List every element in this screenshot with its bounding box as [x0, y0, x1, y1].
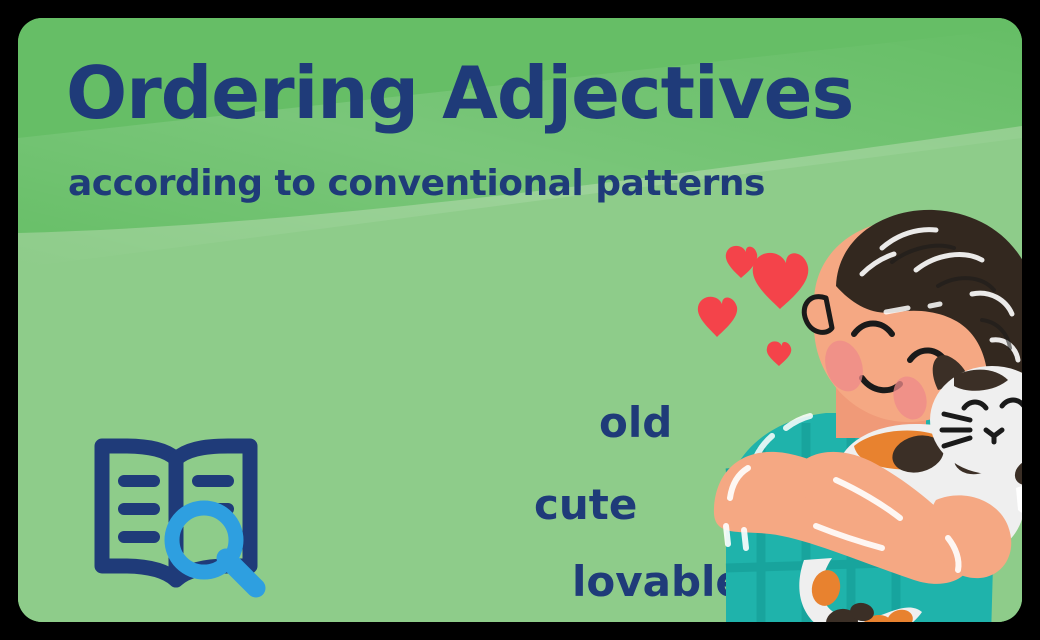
adjective-word-old: old: [599, 402, 672, 444]
ear: [804, 297, 832, 333]
page-title: Ordering Adjectives: [66, 57, 853, 129]
lesson-card: Ordering Adjectives according to convent…: [18, 18, 1022, 622]
open-book-with-magnifier-icon: [80, 430, 280, 605]
page-subtitle: according to conventional patterns: [68, 166, 765, 202]
boy-hugging-cat-illustration: [686, 208, 1022, 622]
adjective-word-cute: cute: [534, 484, 637, 526]
